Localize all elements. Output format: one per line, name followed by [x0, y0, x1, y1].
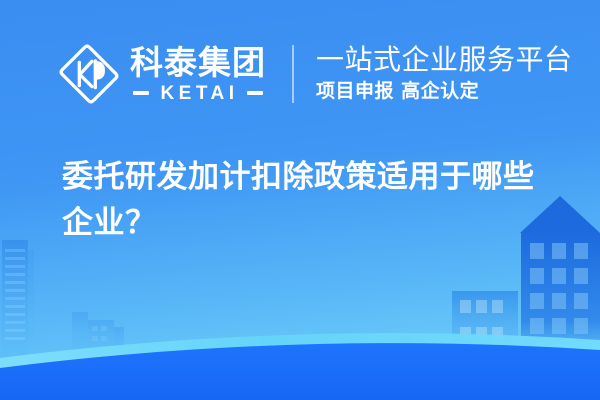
tagline-secondary: 项目申报 高企认定: [316, 79, 573, 105]
brand-name-en: KETAI: [149, 84, 246, 103]
banner-headline: 委托研发加计扣除政策适用于哪些企业？: [62, 155, 554, 247]
brand-wordmark: 科泰集团 KETAI: [130, 45, 266, 103]
wordmark-dash-right: [247, 91, 263, 95]
brand-header: 科泰集团 KETAI 一站式企业服务平台 项目申报 高企认定: [58, 38, 573, 110]
promo-banner: 科泰集团 KETAI 一站式企业服务平台 项目申报 高企认定 委托研发加计扣除政…: [0, 0, 600, 400]
tagline-block: 一站式企业服务平台 项目申报 高企认定: [316, 43, 573, 105]
tagline-primary: 一站式企业服务平台: [316, 43, 573, 76]
brand-logo[interactable]: 科泰集团 KETAI: [58, 38, 266, 110]
ketai-diamond-logo-icon: [58, 43, 120, 105]
wordmark-dash-left: [133, 91, 149, 95]
header-divider: [292, 45, 294, 103]
brand-name-cn: 科泰集团: [130, 45, 266, 81]
brand-name-en-row: KETAI: [130, 84, 266, 103]
